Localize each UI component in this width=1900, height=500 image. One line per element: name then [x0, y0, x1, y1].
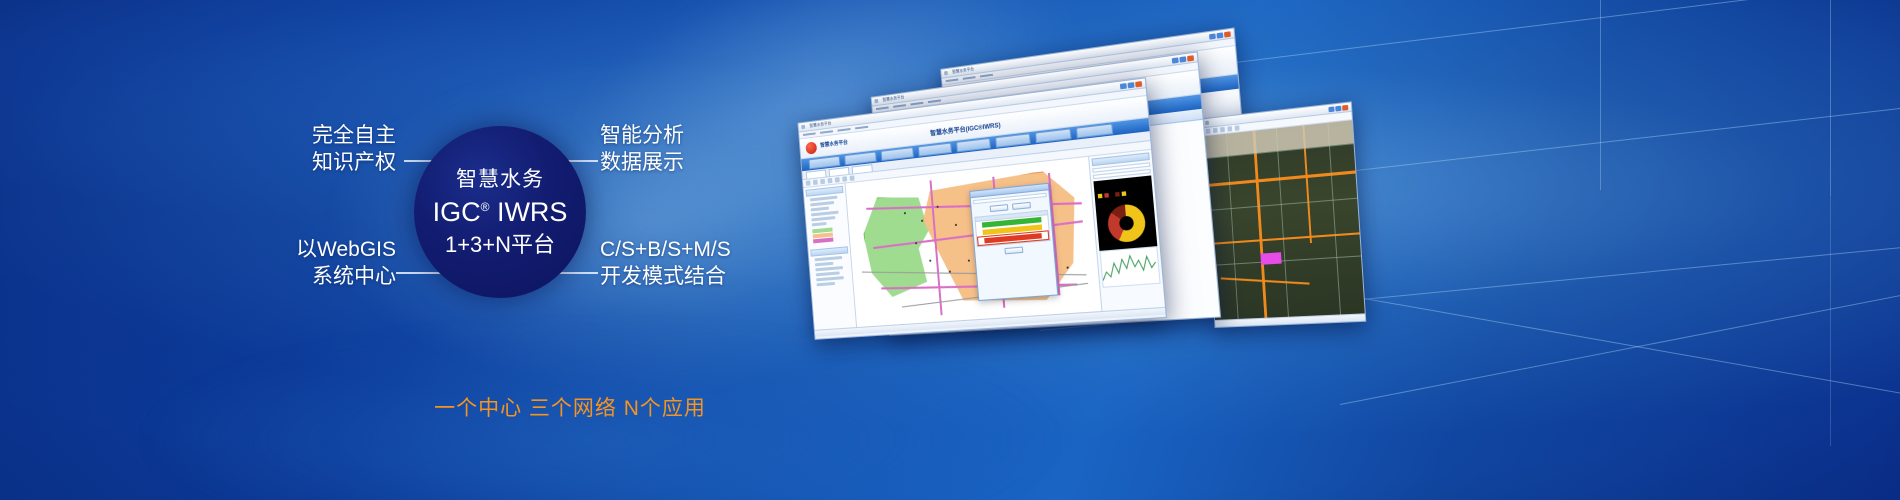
layers-icon[interactable] [1235, 125, 1240, 131]
window-icon [944, 71, 948, 75]
measure-icon[interactable] [842, 176, 847, 182]
company-logo-icon [805, 141, 817, 154]
hub-product-name: IGC® IWRS [433, 199, 568, 226]
layer-item [811, 207, 829, 212]
prop-row [817, 282, 836, 286]
prop-row [816, 271, 840, 276]
brand-label: 智慧水务平台 [820, 140, 848, 149]
window-icon [801, 125, 805, 129]
feature-line-1: 以WebGIS [170, 236, 396, 263]
zoom-in-icon[interactable] [1206, 129, 1211, 134]
feature-top-left: 完全自主 知识产权 [170, 122, 396, 177]
feature-line-2: 知识产权 [170, 149, 396, 176]
hub-circle: 智慧水务 IGC® IWRS 1+3+N平台 [414, 126, 586, 298]
timeseries-chart [1099, 246, 1160, 288]
layer-item [811, 216, 835, 221]
export-button[interactable] [1004, 246, 1023, 254]
app-title: 智慧水务平台(IGC®IWRS) [930, 120, 1001, 138]
window-controls[interactable] [1209, 31, 1231, 39]
pan-icon[interactable] [1220, 127, 1225, 132]
feature-line-1: 智能分析 [600, 122, 684, 149]
layer-tree[interactable] [806, 195, 846, 227]
hub-platform: 1+3+N平台 [445, 234, 555, 256]
zoom-out-icon[interactable] [1213, 128, 1218, 133]
pan-icon[interactable] [827, 178, 832, 184]
registered-mark-icon: ® [481, 200, 490, 214]
sparkline-svg [1101, 247, 1160, 286]
highlight-polygon [1260, 253, 1281, 266]
gis-map-canvas[interactable] [846, 157, 1102, 327]
measure-icon[interactable] [1227, 126, 1232, 132]
prop-row [815, 262, 834, 267]
analysis-panel[interactable] [1088, 150, 1165, 311]
layer-item [810, 201, 834, 206]
banner-stage: 智慧水务平台 智慧水务平台 智慧水务平台(IGC®IWRS) [0, 0, 1900, 500]
legend-swatch-pink [813, 237, 833, 243]
layer-item [812, 222, 827, 226]
window-front-gis[interactable]: 智慧水务平台 智慧水务平台 智慧水务平台(IGC®IWRS) [797, 77, 1167, 340]
hub-product-igc: IGC [433, 197, 481, 227]
reset-button[interactable] [1012, 202, 1031, 210]
prop-row [816, 276, 844, 281]
pie-legend [1097, 179, 1150, 204]
pie-chart-panel [1093, 175, 1157, 250]
window-icon [874, 99, 878, 103]
pointer-icon[interactable] [806, 180, 811, 185]
print-icon[interactable] [850, 175, 855, 181]
report-dialog[interactable] [969, 183, 1058, 301]
window-controls[interactable] [1172, 55, 1194, 63]
window-controls[interactable] [1328, 104, 1348, 111]
hub-product-iwrs: IWRS [497, 197, 568, 227]
zoom-in-icon[interactable] [813, 180, 818, 185]
feature-bottom-right: C/S+B/S+M/S 开发模式结合 [600, 236, 731, 291]
feature-line-2: 系统中心 [170, 263, 396, 290]
tagline: 一个中心 三个网络 N个应用 [360, 392, 780, 422]
zoom-out-icon[interactable] [820, 179, 825, 185]
feature-line-1: 完全自主 [170, 122, 396, 149]
pie-chart [1106, 203, 1146, 244]
feature-line-2: 开发模式结合 [600, 263, 731, 290]
feature-bottom-left: 以WebGIS 系统中心 [170, 236, 396, 291]
window-controls[interactable] [1120, 81, 1142, 89]
prop-row [815, 256, 843, 261]
window-satellite[interactable] [1201, 101, 1366, 328]
feature-line-1: C/S+B/S+M/S [600, 236, 731, 263]
satellite-map-canvas[interactable] [1203, 120, 1364, 320]
hub-chinese-title: 智慧水务 [456, 169, 544, 190]
feature-top-right: 智能分析 数据展示 [600, 122, 684, 177]
identify-icon[interactable] [835, 177, 840, 183]
window-icon [1205, 121, 1209, 125]
map-legend [812, 226, 847, 243]
query-button[interactable] [989, 204, 1008, 212]
feature-line-2: 数据展示 [600, 149, 684, 176]
props-list [811, 255, 851, 286]
